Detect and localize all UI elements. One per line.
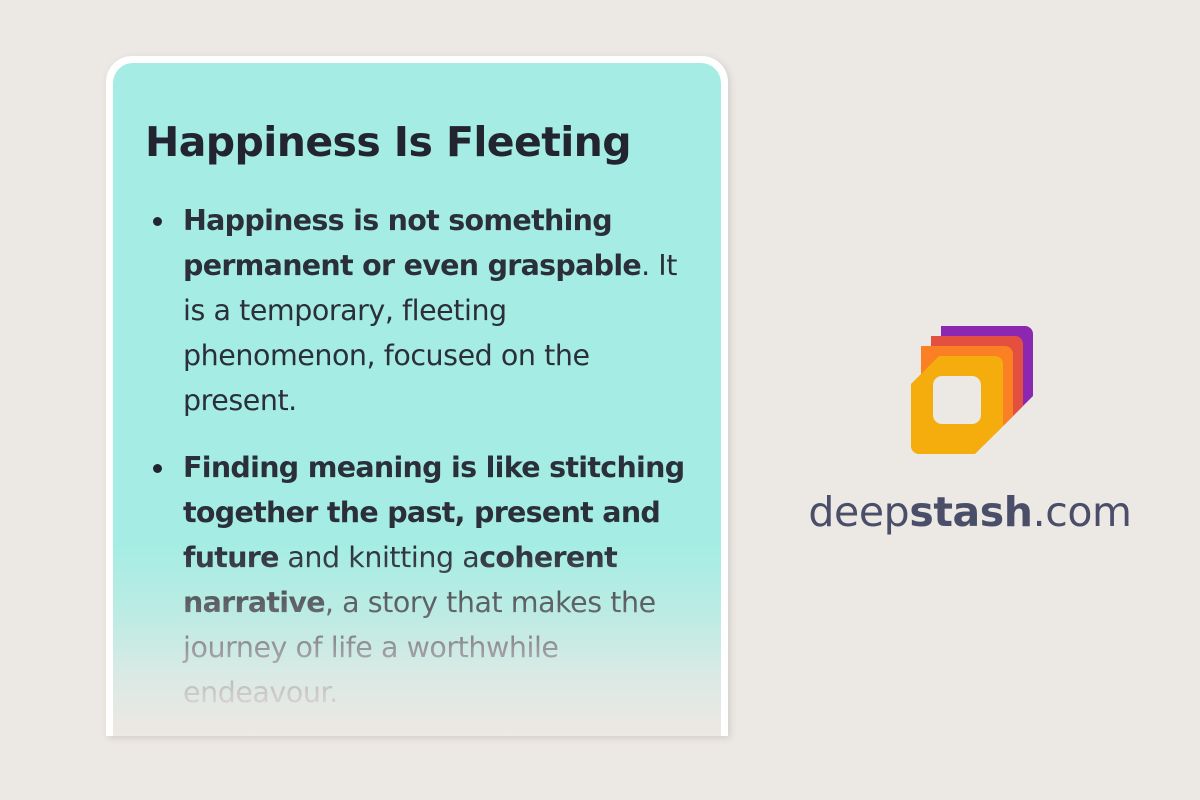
idea-bullet-item: Happiness is not something permanent or … bbox=[145, 198, 695, 423]
stacked-cubes-icon bbox=[903, 320, 1038, 460]
idea-bullet-list: Happiness is not something permanent or … bbox=[113, 164, 721, 715]
brand-wordmark: deepstash.com bbox=[760, 488, 1180, 536]
deepstash-logo bbox=[903, 320, 1038, 460]
brand-word-stash: stash bbox=[909, 488, 1032, 536]
idea-card: Happiness Is Fleeting Happiness is not s… bbox=[106, 56, 728, 736]
page-title: Happiness Is Fleeting bbox=[113, 63, 721, 164]
screenshot-stage: Happiness Is Fleeting Happiness is not s… bbox=[0, 0, 1200, 800]
bullet-text-plain: and knitting a bbox=[279, 541, 479, 574]
idea-card-content: Happiness Is Fleeting Happiness is not s… bbox=[113, 63, 721, 736]
idea-card-surface: Happiness Is Fleeting Happiness is not s… bbox=[113, 63, 721, 736]
idea-bullet-item: Finding meaning is like stitching togeth… bbox=[145, 445, 695, 715]
brand-word-deep: deep bbox=[808, 488, 909, 536]
brand-word-tld: .com bbox=[1033, 488, 1132, 536]
brand-block: deepstash.com bbox=[760, 300, 1180, 560]
bullet-text-emphasis: Happiness is not something permanent or … bbox=[183, 204, 641, 282]
